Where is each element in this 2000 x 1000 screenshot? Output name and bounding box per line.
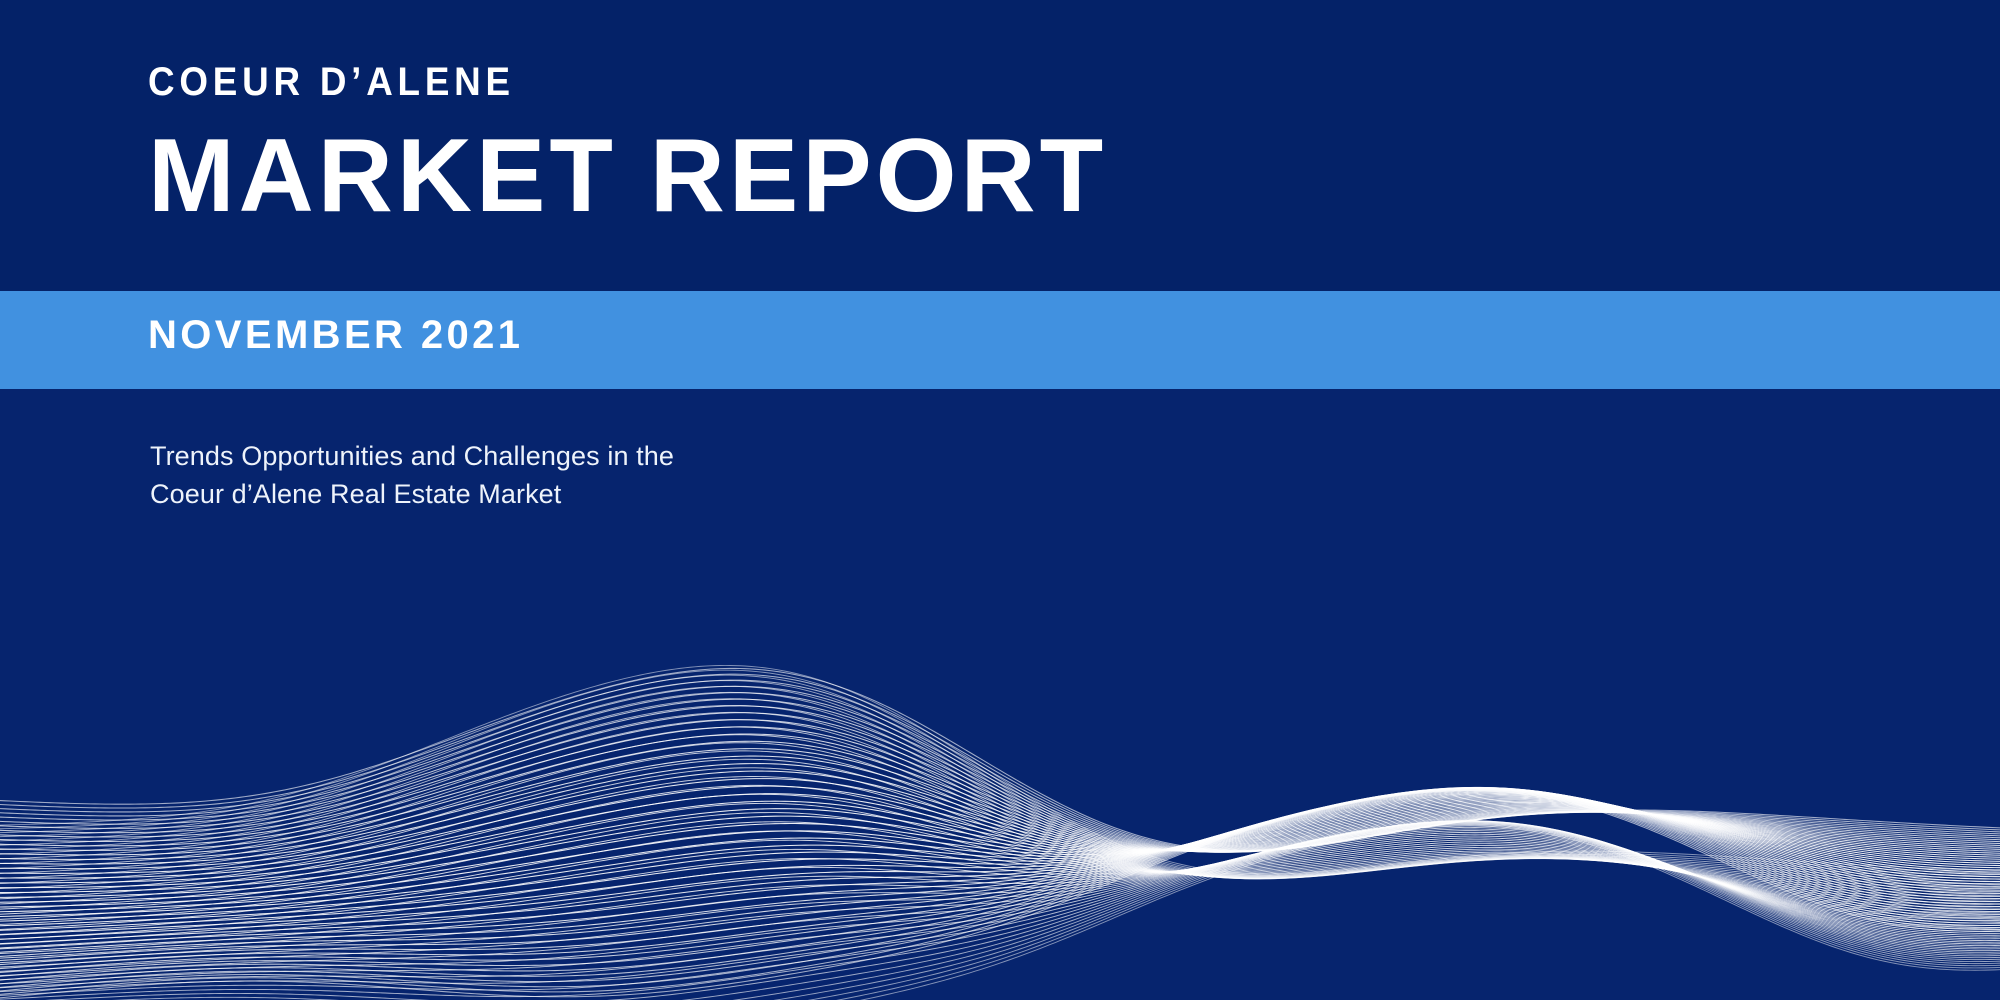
header-block: COEUR D’ALENE MARKET REPORT: [148, 62, 1348, 228]
wave-lines-svg: [0, 560, 2000, 1000]
subtitle-line-1: Trends Opportunities and Challenges in t…: [150, 437, 674, 475]
subtitle-line-2: Coeur d’Alene Real Estate Market: [150, 475, 674, 513]
wave-line: [0, 827, 2000, 967]
kicker-coeur-dalene: COEUR D’ALENE: [148, 62, 1252, 102]
wave-decoration: [0, 560, 2000, 1000]
page-title: MARKET REPORT: [148, 124, 1348, 228]
subtitle: Trends Opportunities and Challenges in t…: [150, 437, 674, 514]
month-label: NOVEMBER 2021: [148, 315, 523, 355]
market-report-cover: COEUR D’ALENE MARKET REPORT NOVEMBER 202…: [0, 0, 2000, 1000]
